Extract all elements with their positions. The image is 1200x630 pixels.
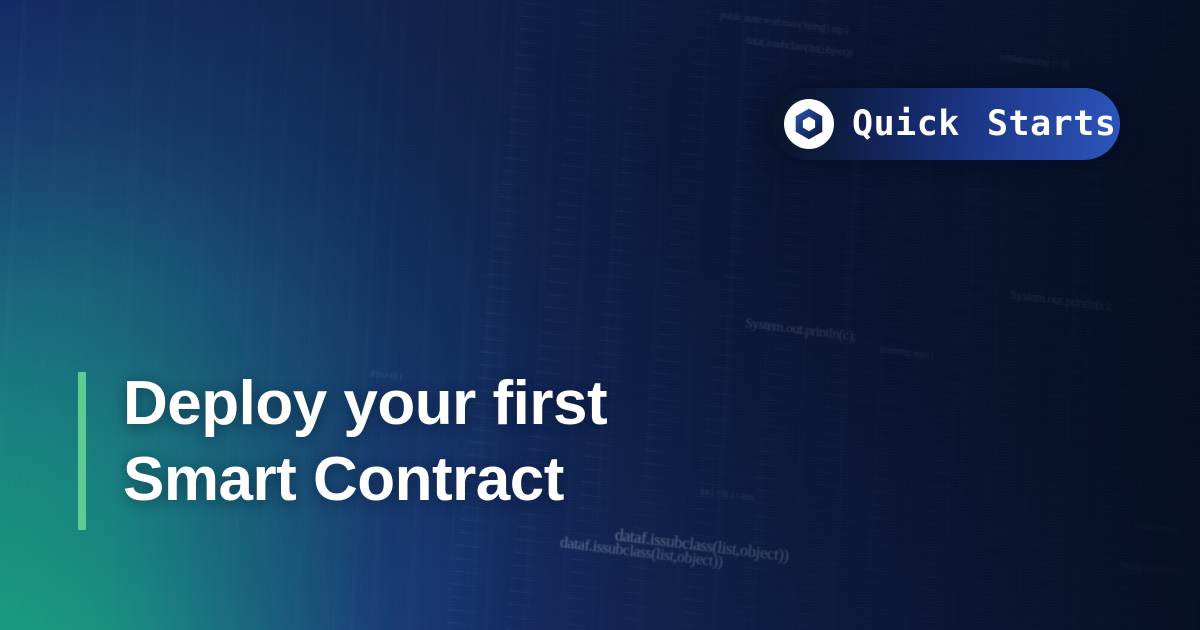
quickstarts-label-starts: Starts (987, 104, 1116, 144)
accent-bar (78, 372, 86, 530)
quickstarts-label: Quick Starts (852, 107, 1116, 142)
quickstarts-banner: System.out.println(c); System.out.printl… (0, 0, 1200, 630)
headline-line-2: Smart Contract (123, 442, 607, 518)
chainlink-hexagon-icon (784, 99, 834, 149)
headline-block: Deploy your first Smart Contract (78, 372, 607, 560)
quickstarts-badge: Quick Starts (772, 88, 1120, 160)
quickstarts-label-quick: Quick (852, 104, 960, 144)
headline-line-1: Deploy your first (123, 366, 607, 442)
page-title: Deploy your first Smart Contract (123, 366, 607, 518)
